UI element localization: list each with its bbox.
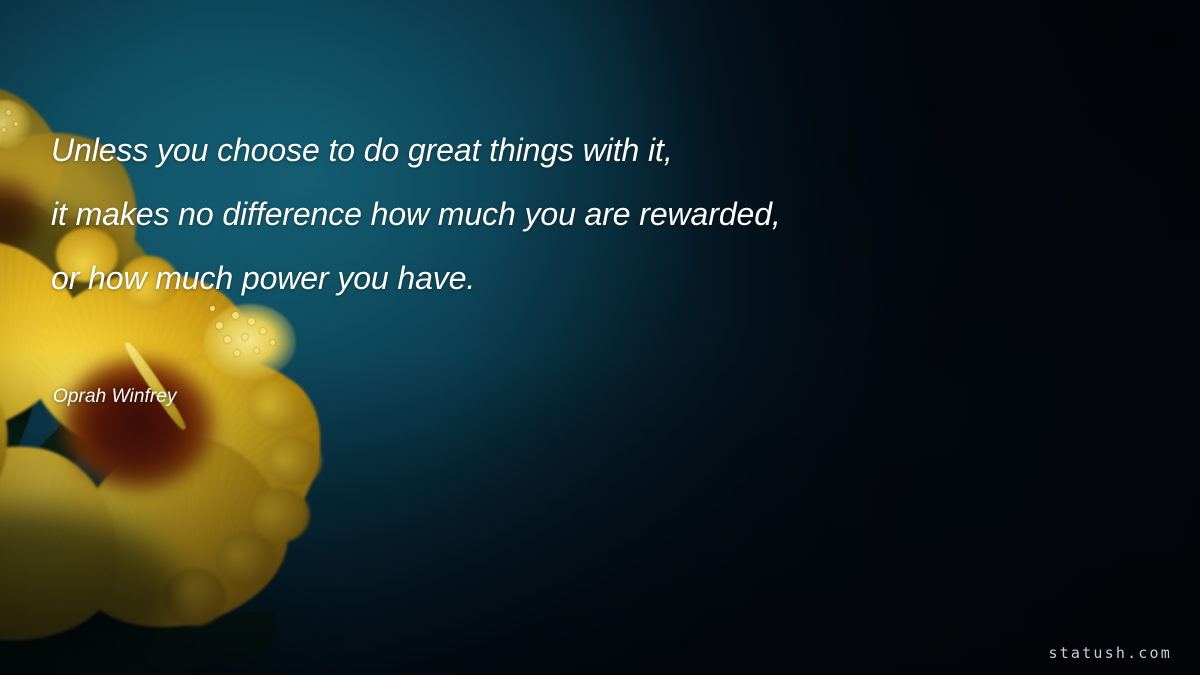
quote-author: Oprah Winfrey bbox=[53, 386, 177, 408]
quote-line-2: it makes no difference how much you are … bbox=[51, 182, 951, 246]
quote-card: Unless you choose to do great things wit… bbox=[0, 0, 1200, 675]
quote-line-1: Unless you choose to do great things wit… bbox=[51, 118, 951, 182]
quote-line-3: or how much power you have. bbox=[51, 246, 951, 310]
quote-text-block: Unless you choose to do great things wit… bbox=[51, 118, 951, 310]
site-watermark: statush.com bbox=[1048, 644, 1172, 662]
background-vignette bbox=[0, 0, 1200, 675]
